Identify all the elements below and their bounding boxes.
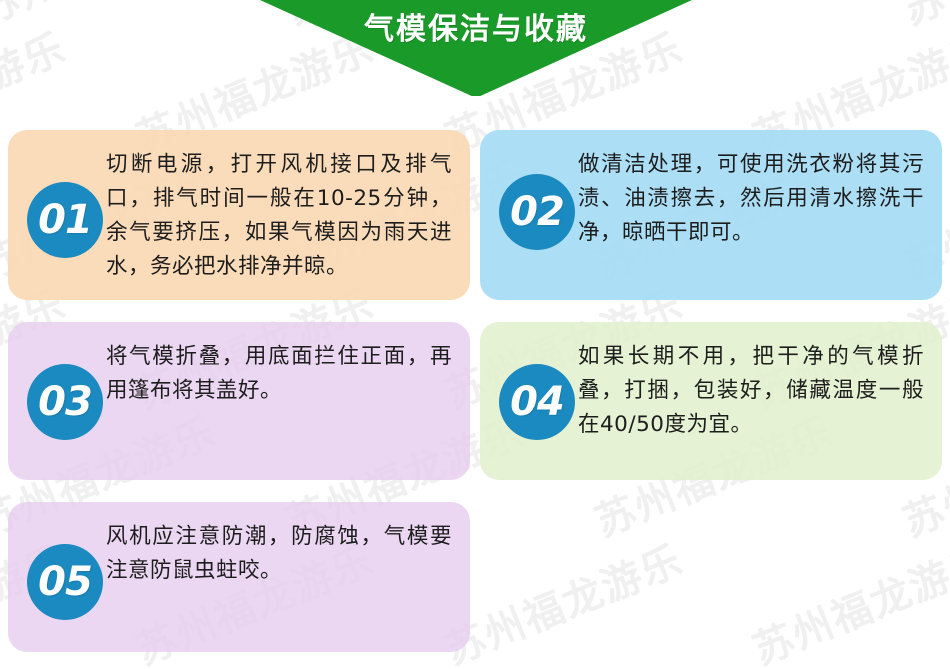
step-text: 将气模折叠，用底面拦住正面，再用篷布将其盖好。 xyxy=(106,338,452,408)
step-card-03: 03 将气模折叠，用底面拦住正面，再用篷布将其盖好。 xyxy=(8,322,470,480)
header-banner: 气模保洁与收藏 xyxy=(0,0,950,100)
steps-list: 01 切断电源，打开风机接口及排气口，排气时间一般在10-25分钟，余气要挤压，… xyxy=(8,130,942,669)
step-card-01: 01 切断电源，打开风机接口及排气口，排气时间一般在10-25分钟，余气要挤压，… xyxy=(8,130,470,300)
card-row: 03 将气模折叠，用底面拦住正面，再用篷布将其盖好。 04 如果长期不用，把干净… xyxy=(8,322,942,480)
step-text: 如果长期不用，把干净的气模折叠，打捆，包装好，储藏温度一般在40/50度为宜。 xyxy=(578,338,924,442)
step-card-05: 05 风机应注意防潮，防腐蚀，气模要注意防鼠虫蛀咬。 xyxy=(8,502,470,652)
step-text: 切断电源，打开风机接口及排气口，排气时间一般在10-25分钟，余气要挤压，如果气… xyxy=(106,146,452,284)
card-row: 01 切断电源，打开风机接口及排气口，排气时间一般在10-25分钟，余气要挤压，… xyxy=(8,130,942,300)
step-text: 风机应注意防潮，防腐蚀，气模要注意防鼠虫蛀咬。 xyxy=(106,518,452,588)
step-number-badge: 02 xyxy=(499,174,575,250)
card-row: 05 风机应注意防潮，防腐蚀，气模要注意防鼠虫蛀咬。 xyxy=(8,502,942,652)
step-number-badge: 04 xyxy=(499,364,575,440)
page-title: 气模保洁与收藏 xyxy=(260,4,692,48)
step-card-04: 04 如果长期不用，把干净的气模折叠，打捆，包装好，储藏温度一般在40/50度为… xyxy=(480,322,942,480)
step-number-badge: 03 xyxy=(27,364,103,440)
step-number-badge: 05 xyxy=(27,544,103,620)
infographic-page: 苏州福龙游乐 苏州福龙游乐 苏州福龙游乐 苏州福龙游乐 苏州福龙游乐 苏州福龙游… xyxy=(0,0,950,669)
step-text: 做清洁处理，可使用洗衣粉将其污渍、油渍擦去，然后用清水擦洗干净，晾晒干即可。 xyxy=(578,146,924,250)
step-number-badge: 01 xyxy=(27,182,103,258)
step-card-02: 02 做清洁处理，可使用洗衣粉将其污渍、油渍擦去，然后用清水擦洗干净，晾晒干即可… xyxy=(480,130,942,300)
